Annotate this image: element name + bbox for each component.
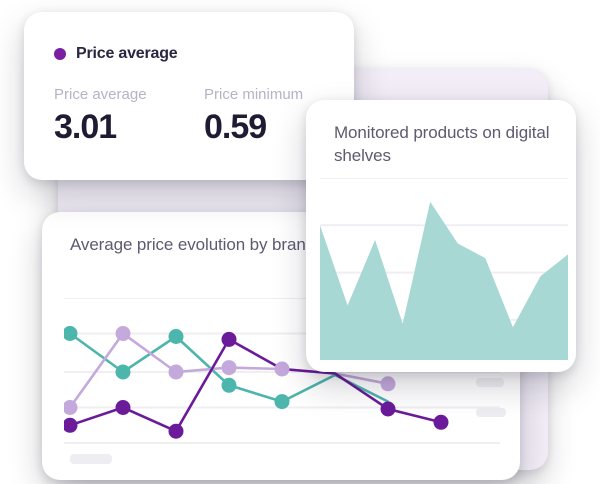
kpi-value: 3.01	[54, 110, 204, 144]
skeleton-placeholder	[476, 378, 504, 387]
kpi-metric-price-average: Price average 3.01	[54, 86, 204, 144]
price-average-card[interactable]: Price average Price average 3.01 Price m…	[24, 12, 354, 180]
monitored-products-title: Monitored products on digital shelves	[334, 122, 576, 168]
area-chart-svg	[320, 178, 568, 360]
legend-dot-icon	[54, 48, 66, 60]
skeleton-placeholder	[476, 408, 506, 417]
kpi-label: Price average	[54, 86, 204, 103]
average-price-evolution-title: Average price evolution by brand	[70, 234, 315, 257]
monitored-products-card[interactable]: Monitored products on digital shelves	[306, 100, 576, 372]
price-average-header: Price average	[54, 45, 177, 63]
monitored-products-chart[interactable]	[320, 178, 568, 360]
dashboard-illustration: Price average Price average 3.01 Price m…	[0, 0, 600, 484]
skeleton-placeholder	[70, 454, 112, 464]
price-average-header-label: Price average	[76, 45, 177, 63]
